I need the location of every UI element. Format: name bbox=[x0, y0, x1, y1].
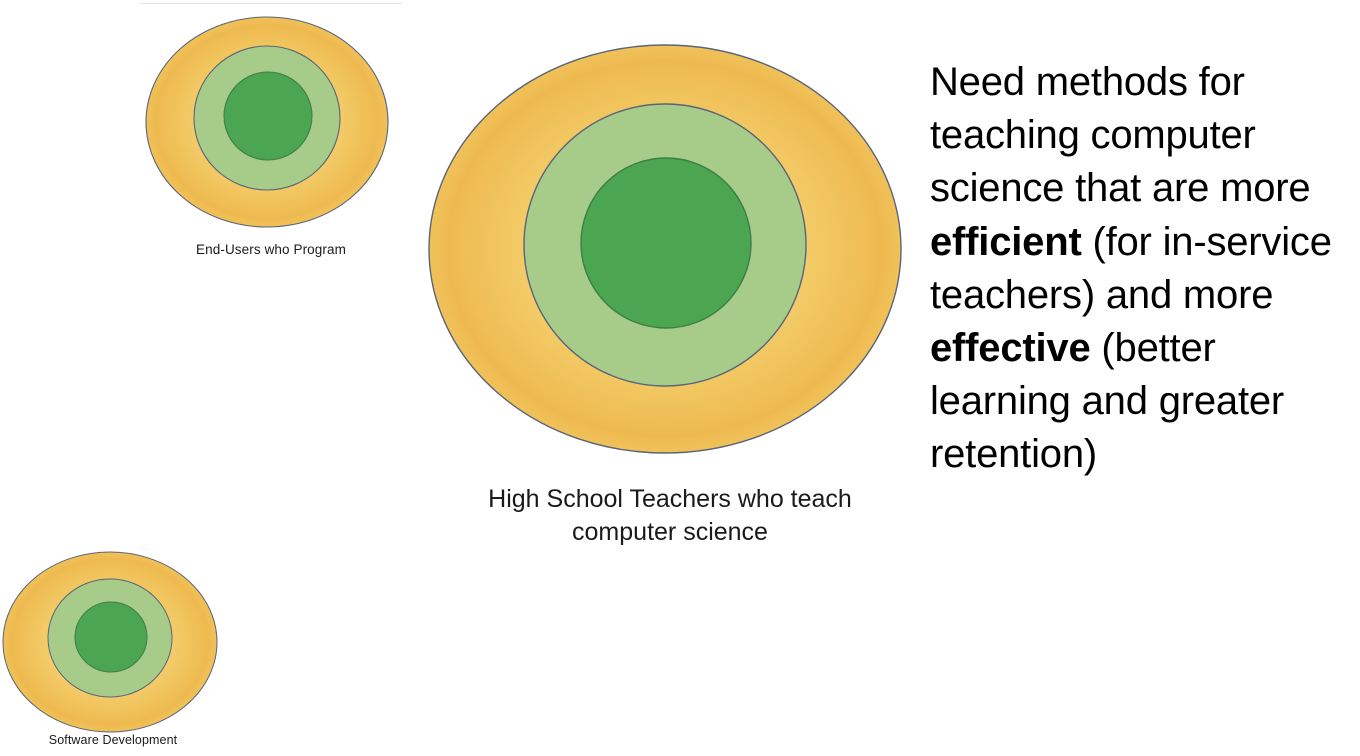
diagram-high-school-teachers[interactable] bbox=[428, 40, 910, 458]
ring-inner-green bbox=[75, 602, 147, 672]
caption-high-school-teachers: High School Teachers who teach computer … bbox=[430, 483, 910, 548]
callout-emphasis-1: efficient bbox=[930, 220, 1082, 264]
callout-emphasis-3: effective bbox=[930, 326, 1091, 370]
ring-inner-green bbox=[224, 72, 312, 160]
ring-inner-green bbox=[581, 158, 751, 328]
diagram-software-development[interactable] bbox=[2, 549, 224, 739]
top-divider-rule bbox=[140, 3, 402, 4]
caption-end-users-who-program: End-Users who Program bbox=[140, 242, 402, 258]
callout-text-block: Need methods for teaching computer scien… bbox=[930, 56, 1350, 482]
diagram-end-users-who-program[interactable] bbox=[142, 14, 392, 242]
caption-software-development: Software Development bbox=[0, 733, 226, 748]
callout-rich-text: Need methods for teaching computer scien… bbox=[930, 60, 1332, 476]
callout-run-0: Need methods for teaching computer scien… bbox=[930, 60, 1310, 210]
slide-canvas: End-Users who Program High School Teache… bbox=[0, 0, 1360, 756]
